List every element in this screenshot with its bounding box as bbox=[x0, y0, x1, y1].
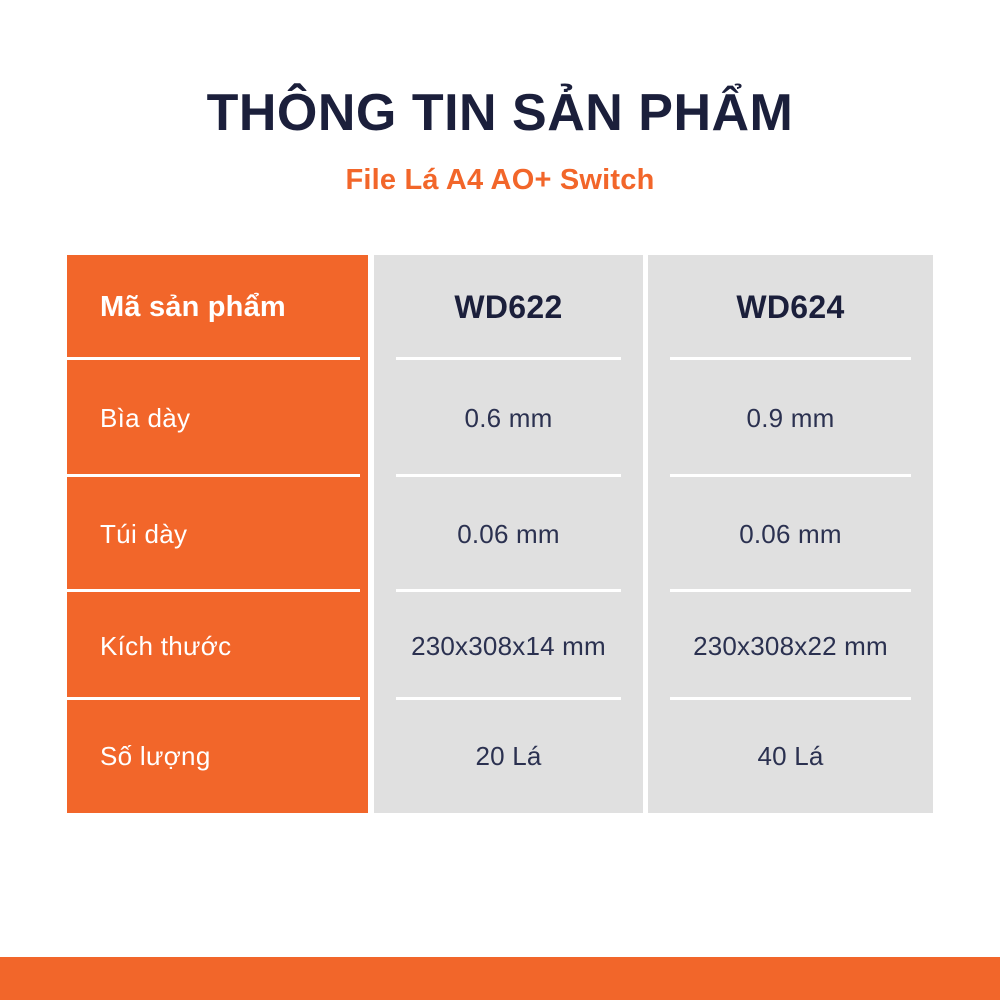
spec-value-cell: 40 Lá bbox=[648, 700, 933, 813]
spec-value-cell: 20 Lá bbox=[374, 700, 643, 813]
spec-value-cover-thickness: 0.6 mm bbox=[465, 403, 553, 434]
spec-label-pocket-thickness: Túi dày bbox=[100, 519, 187, 550]
spec-value-cell: 0.6 mm bbox=[374, 360, 643, 477]
footer-accent-bar bbox=[0, 957, 1000, 1000]
spec-label-dimensions: Kích thước bbox=[100, 631, 231, 662]
spec-value-column-wd624: WD624 0.9 mm 0.06 mm 230x308x22 mm 40 Lá bbox=[648, 255, 933, 813]
page-title: THÔNG TIN SẢN PHẨM bbox=[0, 84, 1000, 142]
spec-label-cover-thickness: Bìa dày bbox=[100, 403, 190, 434]
spec-value-cell: 0.9 mm bbox=[648, 360, 933, 477]
spec-value-cell: 0.06 mm bbox=[648, 477, 933, 592]
spec-value-cell: 0.06 mm bbox=[374, 477, 643, 592]
spec-label-cell: Bìa dày bbox=[67, 360, 368, 477]
spec-label-column: Mã sản phẩm Bìa dày Túi dày Kích thước S… bbox=[67, 255, 368, 813]
spec-value-cell: WD624 bbox=[648, 255, 933, 360]
spec-value-pocket-thickness: 0.06 mm bbox=[457, 519, 560, 550]
spec-value-cover-thickness: 0.9 mm bbox=[747, 403, 835, 434]
spec-label-cell: Túi dày bbox=[67, 477, 368, 592]
spec-value-quantity: 40 Lá bbox=[757, 741, 823, 772]
header: THÔNG TIN SẢN PHẨM File Lá A4 AO+ Switch bbox=[0, 0, 1000, 230]
spec-value-cell: WD622 bbox=[374, 255, 643, 360]
spec-value-cell: 230x308x14 mm bbox=[374, 592, 643, 700]
spec-value-column-wd622: WD622 0.6 mm 0.06 mm 230x308x14 mm 20 Lá bbox=[374, 255, 643, 813]
spec-value-dimensions: 230x308x22 mm bbox=[693, 631, 888, 662]
spec-value-product-code: WD624 bbox=[736, 289, 844, 326]
spec-label-product-code: Mã sản phẩm bbox=[100, 291, 286, 324]
spec-label-quantity: Số lượng bbox=[100, 741, 211, 772]
spec-value-quantity: 20 Lá bbox=[475, 741, 541, 772]
page-subtitle: File Lá A4 AO+ Switch bbox=[0, 164, 1000, 197]
spec-label-cell: Số lượng bbox=[67, 700, 368, 813]
spec-value-pocket-thickness: 0.06 mm bbox=[739, 519, 842, 550]
spec-label-cell: Mã sản phẩm bbox=[67, 255, 368, 360]
product-spec-table: Mã sản phẩm Bìa dày Túi dày Kích thước S… bbox=[0, 255, 1000, 813]
spec-value-dimensions: 230x308x14 mm bbox=[411, 631, 606, 662]
spec-value-cell: 230x308x22 mm bbox=[648, 592, 933, 700]
spec-value-product-code: WD622 bbox=[454, 289, 562, 326]
spec-label-cell: Kích thước bbox=[67, 592, 368, 700]
